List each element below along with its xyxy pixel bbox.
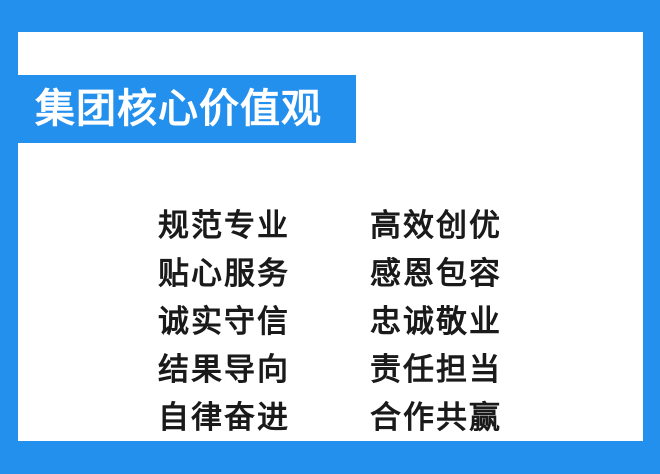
value-item-left: 诚实守信 — [158, 307, 370, 338]
page-title: 集团核心价值观 — [35, 89, 322, 129]
value-item-left: 规范专业 — [158, 211, 370, 242]
value-row: 贴心服务 感恩包容 — [158, 250, 538, 298]
value-row: 自律奋进 合作共赢 — [158, 394, 538, 442]
value-row: 规范专业 高效创优 — [158, 202, 538, 250]
value-item-left: 贴心服务 — [158, 259, 370, 290]
value-item-right: 责任担当 — [370, 355, 538, 386]
value-item-right: 高效创优 — [370, 211, 538, 242]
value-item-right: 感恩包容 — [370, 259, 538, 290]
value-item-left: 结果导向 — [158, 355, 370, 386]
poster-canvas: 规范专业 高效创优 贴心服务 感恩包容 诚实守信 忠诚敬业 结果导向 责任担当 … — [0, 0, 660, 474]
title-banner: 集团核心价值观 — [0, 75, 356, 143]
value-item-right: 合作共赢 — [370, 403, 538, 434]
value-item-left: 自律奋进 — [158, 403, 370, 434]
value-row: 诚实守信 忠诚敬业 — [158, 298, 538, 346]
value-item-right: 忠诚敬业 — [370, 307, 538, 338]
core-values-grid: 规范专业 高效创优 贴心服务 感恩包容 诚实守信 忠诚敬业 结果导向 责任担当 … — [158, 202, 538, 442]
value-row: 结果导向 责任担当 — [158, 346, 538, 394]
